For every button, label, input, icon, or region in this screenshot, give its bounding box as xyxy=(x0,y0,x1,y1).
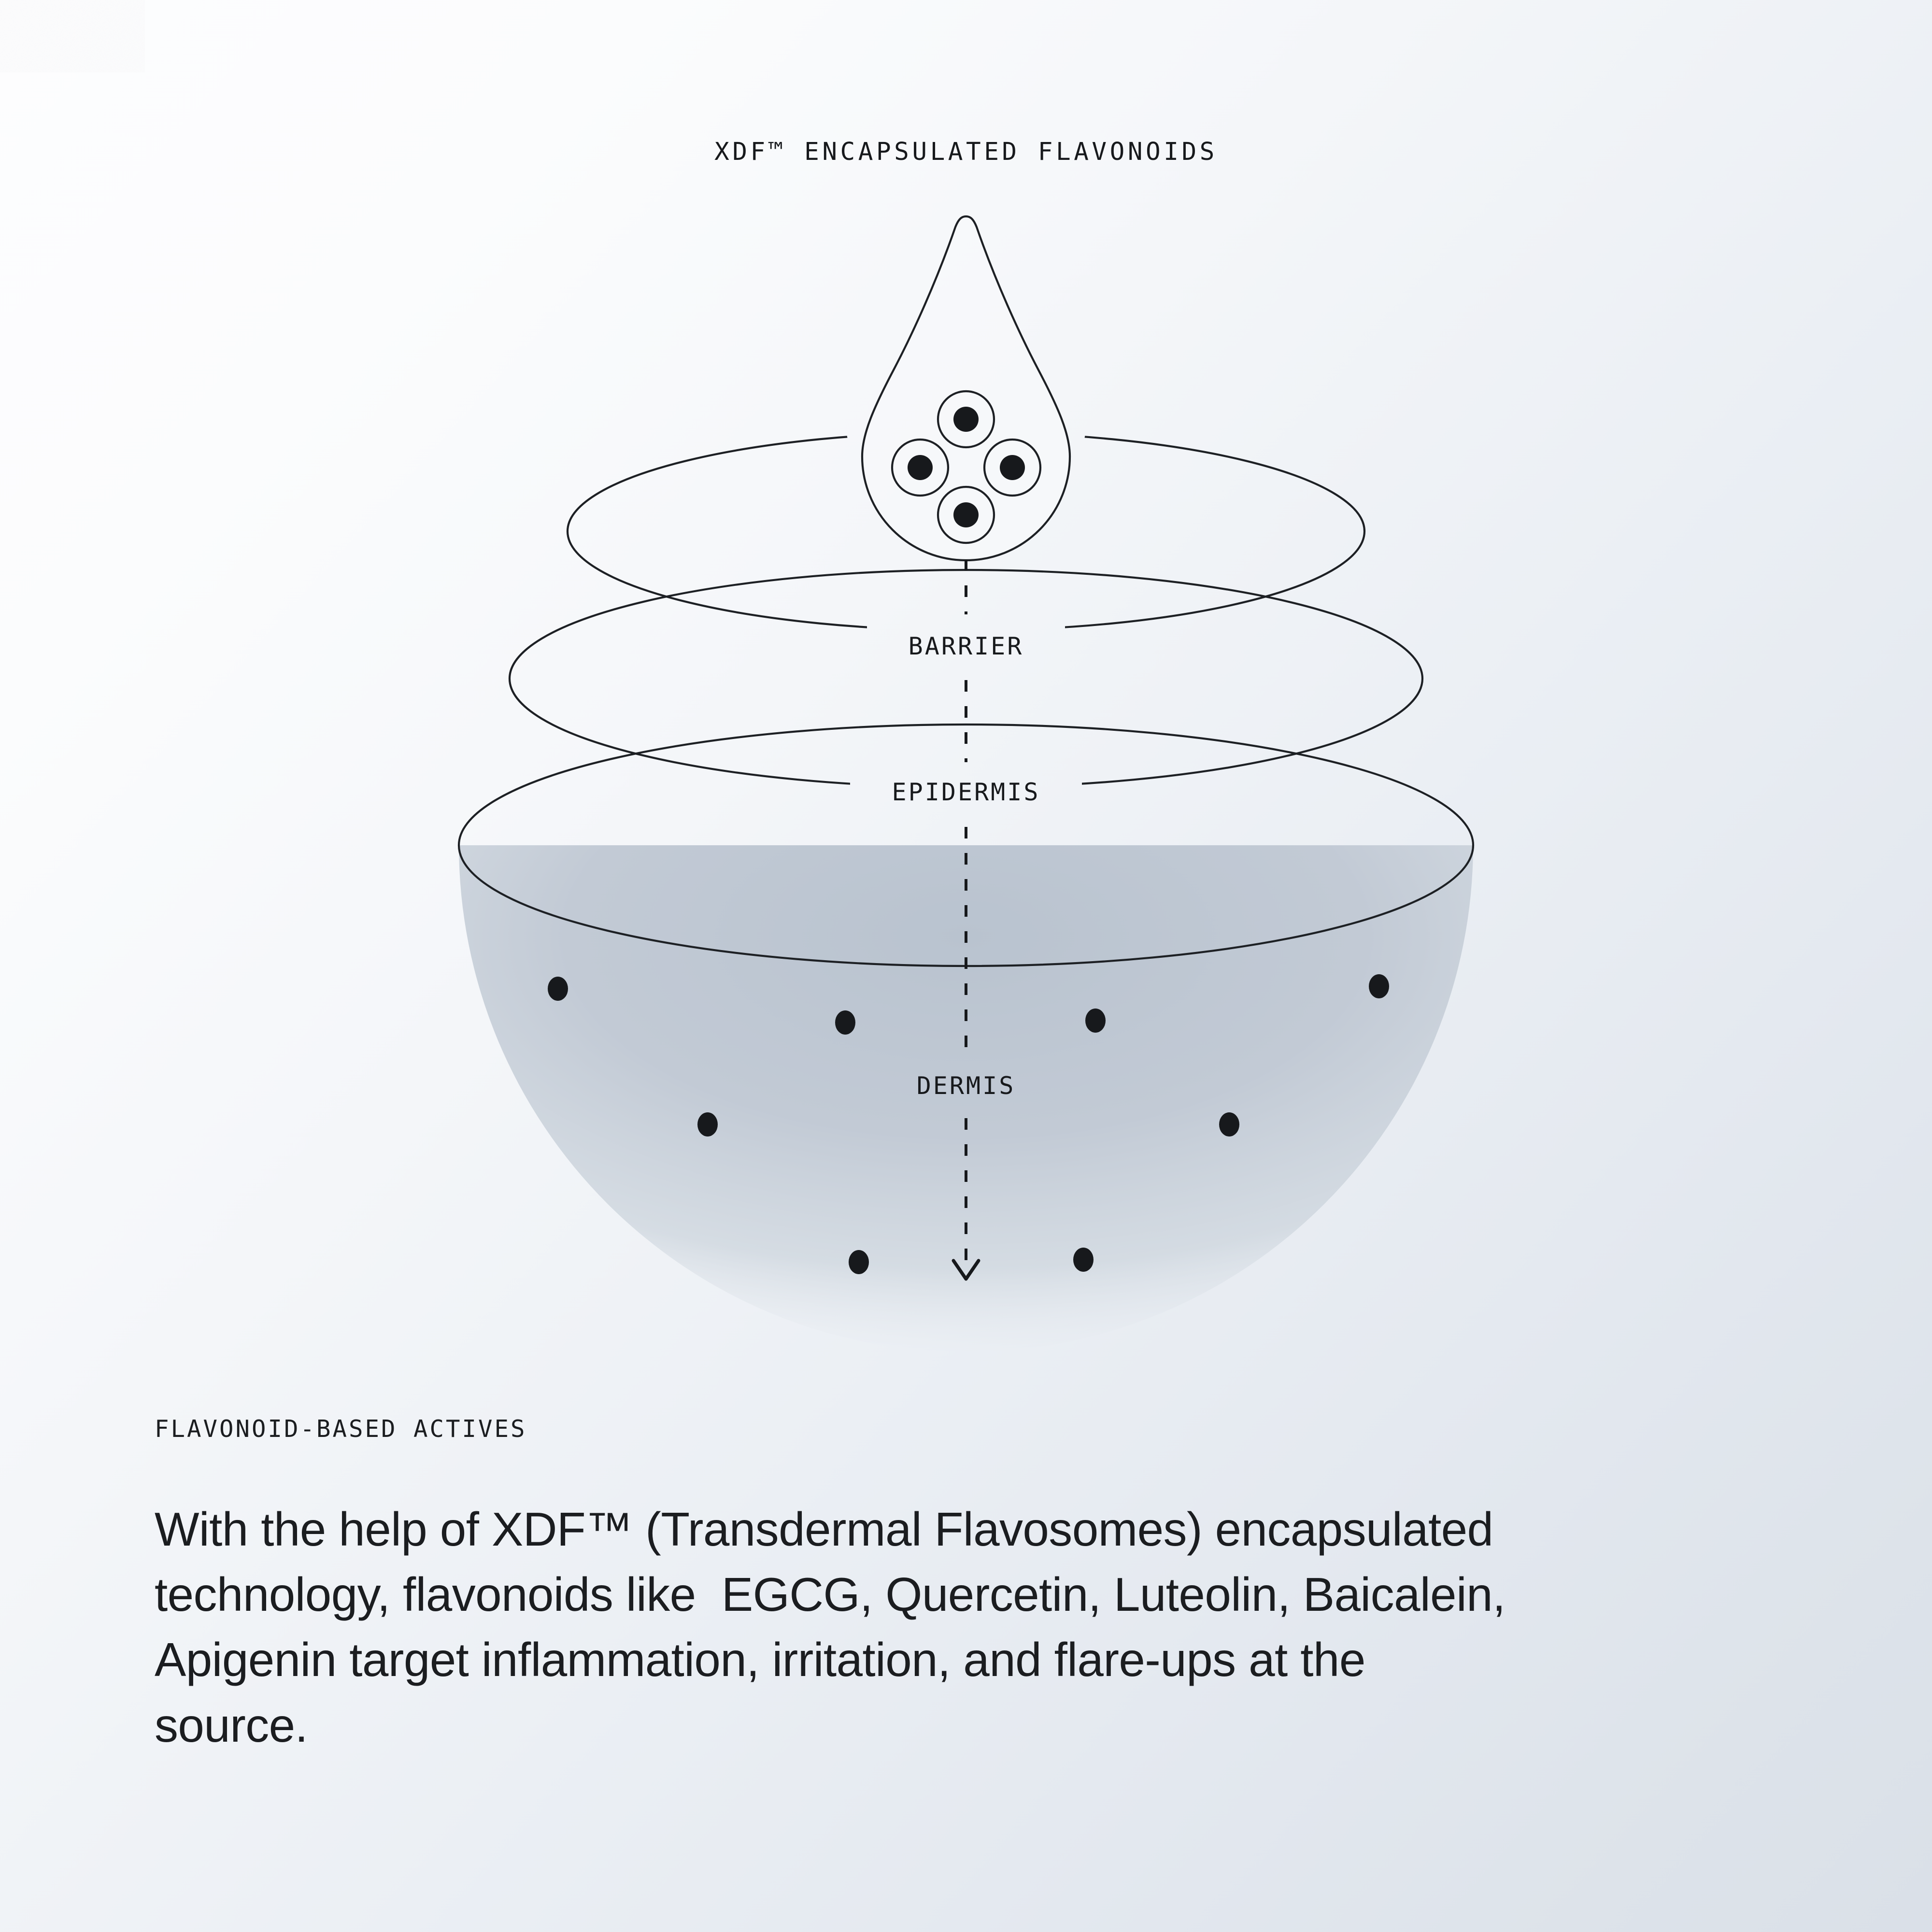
page-title: XDF™ ENCAPSULATED FLAVONOIDS xyxy=(0,138,1932,166)
dermis-particle xyxy=(1085,1009,1106,1033)
dermis-particle xyxy=(1369,974,1389,998)
layer-label-epidermis: EPIDERMIS xyxy=(892,778,1040,806)
droplet-icon xyxy=(862,216,1070,560)
dermis-particle xyxy=(1073,1248,1094,1272)
layer-label-barrier: BARRIER xyxy=(909,632,1024,660)
layer-label-dermis: DERMIS xyxy=(917,1072,1016,1100)
infographic-canvas: XDF™ ENCAPSULATED FLAVONOIDS BARRIER EPI… xyxy=(0,0,1932,1932)
copy-body: With the help of XDF™ (Transdermal Flavo… xyxy=(155,1497,1507,1758)
dermis-particle xyxy=(548,977,568,1001)
dermis-particle xyxy=(849,1250,869,1274)
dermis-particle xyxy=(835,1010,855,1035)
dermis-particle xyxy=(1219,1112,1239,1136)
dermis-particle xyxy=(697,1112,718,1136)
copy-eyebrow: FLAVONOID-BASED ACTIVES xyxy=(155,1415,1604,1443)
layer-ellipse-epidermis xyxy=(510,570,1422,787)
copy-block: FLAVONOID-BASED ACTIVES With the help of… xyxy=(155,1415,1604,1758)
